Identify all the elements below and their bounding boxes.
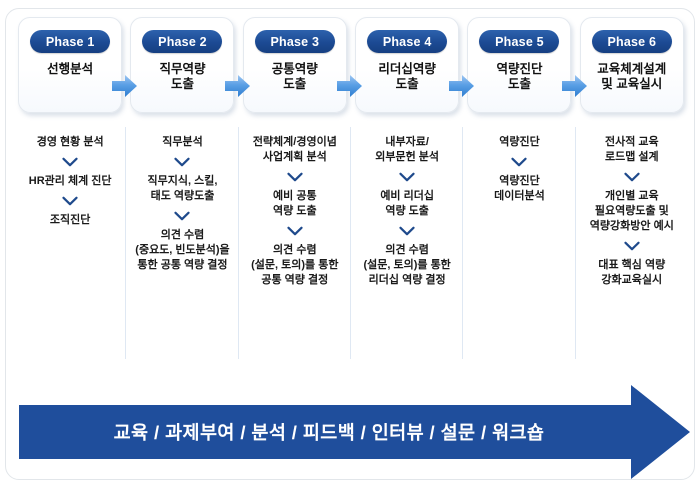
step-separator bbox=[287, 172, 303, 182]
phase-steps-3: 전략체계/경영이념 사업계획 분석예비 공통 역량 도출의견 수렴 (설문, 토… bbox=[239, 135, 351, 288]
step-separator bbox=[174, 211, 190, 221]
step-separator bbox=[174, 157, 190, 167]
phase-badge-5: Phase 5 bbox=[479, 30, 559, 53]
phase-column-3: Phase 3공통역량 도출전략체계/경영이념 사업계획 분석예비 공통 역량 … bbox=[239, 17, 351, 369]
step-separator bbox=[511, 157, 527, 167]
step-item: 직무분석 bbox=[159, 135, 205, 150]
connector-arrow-1-to-2 bbox=[112, 75, 138, 97]
phase-title-3: 공통역량 도출 bbox=[272, 62, 318, 92]
step-item: 조직진단 bbox=[47, 213, 93, 228]
chevron-down-icon bbox=[174, 211, 190, 221]
step-item: 의견 수렴 (중요도, 빈도분석)을 통한 공통 역량 결정 bbox=[132, 228, 232, 273]
step-item: 역량진단 데이터분석 bbox=[491, 174, 548, 204]
diagram-container: Phase 1선행분석경영 현황 분석HR관리 체계 진단조직진단Phase 2… bbox=[5, 8, 695, 480]
phase-header-card-4[interactable]: Phase 4리더십역량 도출 bbox=[355, 17, 459, 113]
chevron-down-icon bbox=[399, 226, 415, 236]
chevron-down-icon bbox=[511, 157, 527, 167]
step-separator bbox=[624, 241, 640, 251]
phase-badge-3: Phase 3 bbox=[255, 30, 335, 53]
step-item: 예비 공통 역량 도출 bbox=[270, 189, 320, 219]
step-item: 대표 핵심 역량 강화교육실시 bbox=[595, 258, 668, 288]
step-item: 직무지식, 스킬, 태도 역량도출 bbox=[145, 174, 221, 204]
phase-header-card-5[interactable]: Phase 5역량진단 도출 bbox=[467, 17, 571, 113]
phase-header-card-1[interactable]: Phase 1선행분석 bbox=[18, 17, 122, 113]
phase-header-card-6[interactable]: Phase 6교육체계설계 및 교육실시 bbox=[580, 17, 684, 113]
phase-steps-5: 역량진단역량진단 데이터분석 bbox=[463, 135, 575, 204]
flow-arrow-icon bbox=[449, 75, 475, 97]
step-item: HR관리 체계 진단 bbox=[26, 174, 115, 189]
bottom-arrow-banner: 교육 / 과제부여 / 분석 / 피드백 / 인터뷰 / 설문 / 워크숍 bbox=[19, 383, 691, 481]
step-item: 내부자료/ 외부문헌 분석 bbox=[372, 135, 442, 165]
phase-steps-6: 전사적 교육 로드맵 설계개인별 교육 필요역량도출 및 역량강화방안 예시대표… bbox=[576, 135, 688, 288]
step-separator bbox=[62, 157, 78, 167]
step-separator bbox=[62, 196, 78, 206]
phase-badge-1: Phase 1 bbox=[30, 30, 110, 53]
phase-steps-4: 내부자료/ 외부문헌 분석예비 리더십 역량 도출의견 수렴 (설문, 토의)를… bbox=[351, 135, 463, 288]
phase-column-2: Phase 2직무역량 도출직무분석직무지식, 스킬, 태도 역량도출의견 수렴… bbox=[126, 17, 238, 369]
phase-column-6: Phase 6교육체계설계 및 교육실시전사적 교육 로드맵 설계개인별 교육 … bbox=[576, 17, 688, 369]
chevron-down-icon bbox=[287, 226, 303, 236]
step-item: 개인별 교육 필요역량도출 및 역량강화방안 예시 bbox=[587, 189, 677, 234]
phase-title-2: 직무역량 도출 bbox=[159, 62, 205, 92]
step-item: 경영 현황 분석 bbox=[34, 135, 107, 150]
phase-header-card-2[interactable]: Phase 2직무역량 도출 bbox=[130, 17, 234, 113]
phase-badge-2: Phase 2 bbox=[142, 30, 222, 53]
connector-arrow-3-to-4 bbox=[337, 75, 363, 97]
phase-title-4: 리더십역량 도출 bbox=[378, 62, 436, 92]
phase-title-6: 교육체계설계 및 교육실시 bbox=[597, 62, 666, 92]
flow-arrow-icon bbox=[112, 75, 138, 97]
step-item: 역량진단 bbox=[496, 135, 542, 150]
phase-title-5: 역량진단 도출 bbox=[496, 62, 542, 92]
flow-arrow-icon bbox=[337, 75, 363, 97]
phase-column-4: Phase 4리더십역량 도출내부자료/ 외부문헌 분석예비 리더십 역량 도출… bbox=[351, 17, 463, 369]
chevron-down-icon bbox=[62, 196, 78, 206]
phase-column-1: Phase 1선행분석경영 현황 분석HR관리 체계 진단조직진단 bbox=[14, 17, 126, 369]
step-separator bbox=[399, 226, 415, 236]
phase-badge-6: Phase 6 bbox=[592, 30, 672, 53]
phase-columns: Phase 1선행분석경영 현황 분석HR관리 체계 진단조직진단Phase 2… bbox=[14, 17, 688, 369]
connector-arrow-5-to-6 bbox=[562, 75, 588, 97]
connector-arrow-4-to-5 bbox=[449, 75, 475, 97]
step-item: 의견 수렴 (설문, 토의)를 통한 공통 역량 결정 bbox=[248, 243, 341, 288]
chevron-down-icon bbox=[399, 172, 415, 182]
phase-header-card-3[interactable]: Phase 3공통역량 도출 bbox=[243, 17, 347, 113]
step-item: 전사적 교육 로드맵 설계 bbox=[602, 135, 662, 165]
step-separator bbox=[287, 226, 303, 236]
chevron-down-icon bbox=[624, 241, 640, 251]
phase-steps-2: 직무분석직무지식, 스킬, 태도 역량도출의견 수렴 (중요도, 빈도분석)을 … bbox=[126, 135, 238, 273]
step-separator bbox=[624, 172, 640, 182]
chevron-down-icon bbox=[624, 172, 640, 182]
chevron-down-icon bbox=[174, 157, 190, 167]
process-diagram: Phase 1선행분석경영 현황 분석HR관리 체계 진단조직진단Phase 2… bbox=[0, 0, 700, 487]
connector-arrow-2-to-3 bbox=[225, 75, 251, 97]
chevron-down-icon bbox=[287, 172, 303, 182]
flow-arrow-icon bbox=[562, 75, 588, 97]
phase-column-5: Phase 5역량진단 도출역량진단역량진단 데이터분석 bbox=[463, 17, 575, 369]
flow-arrow-icon bbox=[225, 75, 251, 97]
step-item: 예비 리더십 역량 도출 bbox=[377, 189, 437, 219]
phase-title-1: 선행분석 bbox=[47, 62, 93, 77]
step-item: 전략체계/경영이념 사업계획 분석 bbox=[250, 135, 340, 165]
step-item: 의견 수렴 (설문, 토의)를 통한 리더십 역량 결정 bbox=[360, 243, 453, 288]
phase-steps-1: 경영 현황 분석HR관리 체계 진단조직진단 bbox=[14, 135, 126, 228]
phase-badge-4: Phase 4 bbox=[367, 30, 447, 53]
arrow-banner-shape bbox=[19, 383, 691, 481]
step-separator bbox=[399, 172, 415, 182]
chevron-down-icon bbox=[62, 157, 78, 167]
